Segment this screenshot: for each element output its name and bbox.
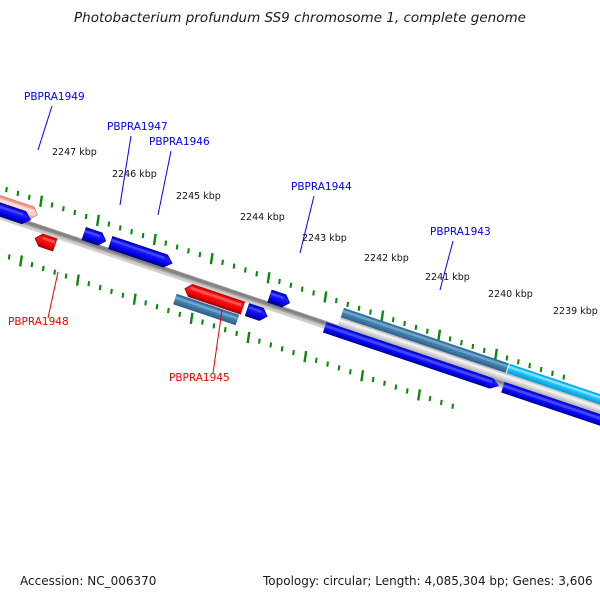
gene-label-pbpra1946[interactable]: PBPRA1946 — [149, 136, 210, 148]
canvas-background — [0, 0, 600, 600]
genome-map: Photobacterium profundum SS9 chromosome … — [0, 0, 600, 600]
scale-label: 2246 kbp — [112, 169, 157, 180]
scale-label: 2242 kbp — [364, 253, 409, 264]
scale-label: 2244 kbp — [240, 212, 285, 223]
genome-stats-text: Topology: circular; Length: 4,085,304 bp… — [262, 574, 593, 588]
gene-label-pbpra1945[interactable]: PBPRA1945 — [169, 372, 230, 384]
page-title: Photobacterium profundum SS9 chromosome … — [74, 10, 526, 26]
scale-label: 2243 kbp — [302, 233, 347, 244]
scale-label: 2245 kbp — [176, 191, 221, 202]
gene-label-pbpra1948[interactable]: PBPRA1948 — [8, 316, 69, 328]
gene-label-pbpra1949[interactable]: PBPRA1949 — [24, 91, 85, 103]
scale-label: 2241 kbp — [425, 272, 470, 283]
gene-label-pbpra1944[interactable]: PBPRA1944 — [291, 181, 352, 193]
gene-label-pbpra1947[interactable]: PBPRA1947 — [107, 121, 168, 133]
scale-label: 2239 kbp — [553, 306, 598, 317]
scale-label: 2247 kbp — [52, 147, 97, 158]
gene-label-pbpra1943[interactable]: PBPRA1943 — [430, 226, 491, 238]
scale-label: 2240 kbp — [488, 289, 533, 300]
accession-text: Accession: NC_006370 — [20, 574, 156, 588]
